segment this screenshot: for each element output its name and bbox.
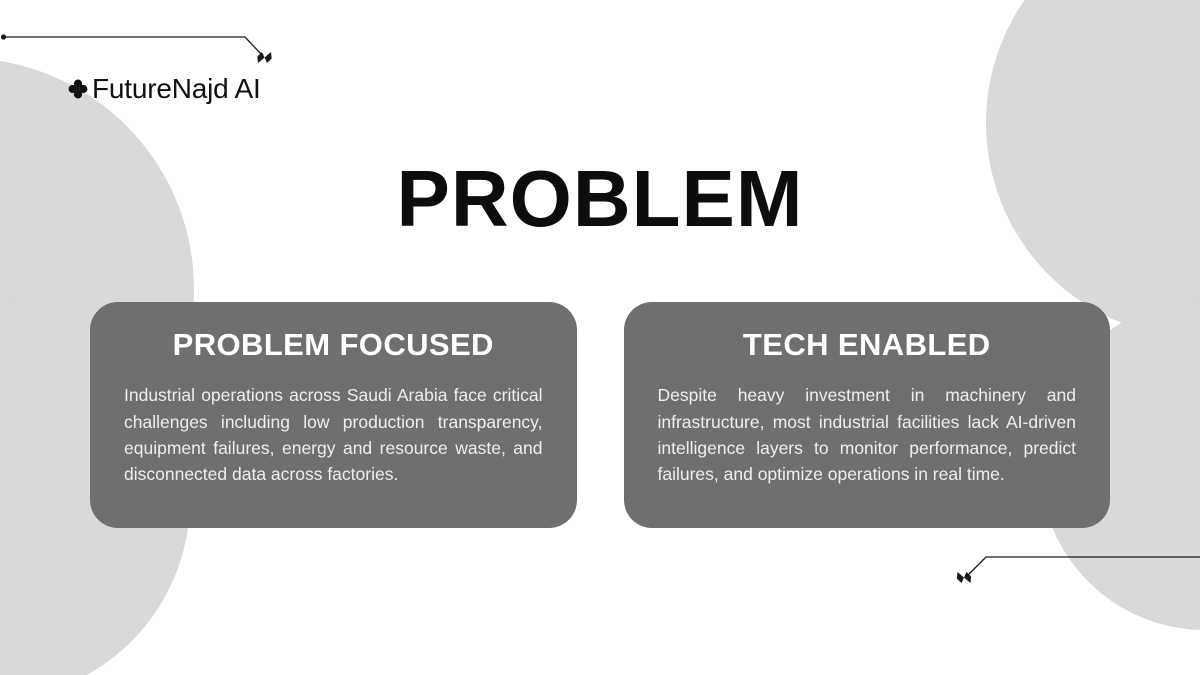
card-body: Industrial operations across Saudi Arabi… <box>124 382 543 488</box>
page-title: PROBLEM <box>0 159 1200 239</box>
card-problem-focused: PROBLEM FOCUSED Industrial operations ac… <box>90 302 577 528</box>
card-body: Despite heavy investment in machinery an… <box>658 382 1077 488</box>
brand-logo: FutureNajd AI <box>66 74 261 104</box>
card-title: PROBLEM FOCUSED <box>124 328 543 362</box>
card-tech-enabled: TECH ENABLED Despite heavy investment in… <box>624 302 1111 528</box>
cards-container: PROBLEM FOCUSED Industrial operations ac… <box>90 302 1110 528</box>
card-title: TECH ENABLED <box>658 328 1077 362</box>
brand-name: FutureNajd AI <box>92 75 261 103</box>
clover-icon <box>66 74 90 104</box>
presentation-slide: FutureNajd AI PROBLEM PROBLEM FOCUSED In… <box>0 0 1200 675</box>
